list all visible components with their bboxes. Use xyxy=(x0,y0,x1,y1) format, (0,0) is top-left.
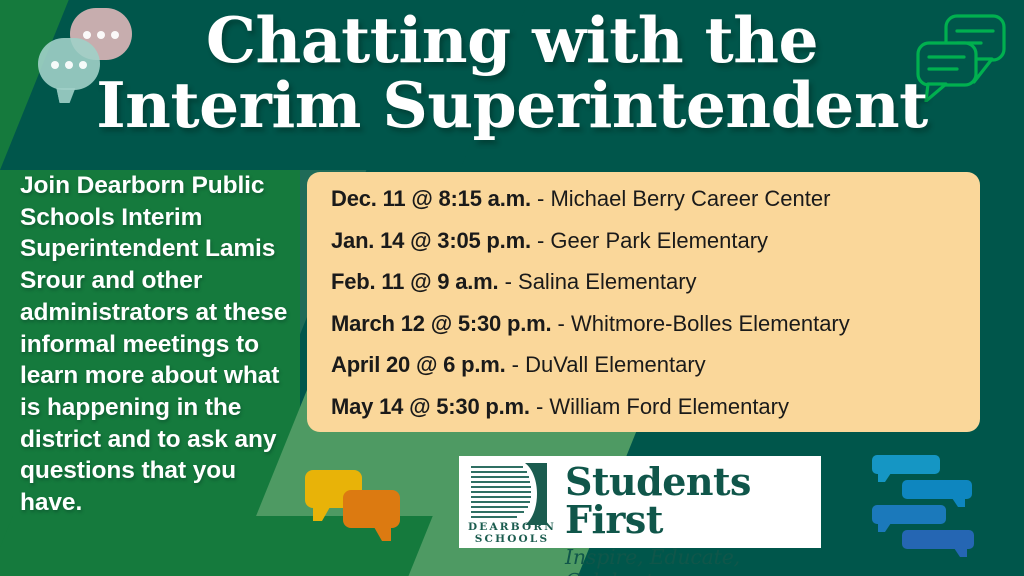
dearborn-schools-logo: DEARBORN SCHOOLS Students First Inspire,… xyxy=(459,456,821,548)
logo-mark-wordmark: DEARBORN SCHOOLS xyxy=(466,521,558,545)
schedule-row: March 12 @ 5:30 p.m. - Whitmore-Bolles E… xyxy=(331,313,980,335)
schedule-card: Dec. 11 @ 8:15 a.m. - Michael Berry Care… xyxy=(307,172,980,432)
schedule-datetime: Dec. 11 @ 8:15 a.m. xyxy=(331,186,531,211)
blue-bubble xyxy=(872,505,946,524)
logo-mark-line-1: DEARBORN xyxy=(466,521,558,533)
schedule-location: Whitmore-Bolles Elementary xyxy=(571,311,850,336)
logo-tagline: Inspire, Educate, Celebrate xyxy=(565,545,815,576)
title-line-1: Chatting with the xyxy=(0,8,1024,73)
logo-title: Students First xyxy=(565,463,815,539)
poster-canvas: Chatting with the Interim Superintendent… xyxy=(0,0,1024,576)
title-line-2: Interim Superintendent xyxy=(0,73,1024,138)
schedule-location: Michael Berry Career Center xyxy=(550,186,830,211)
schedule-row: April 20 @ 6 p.m. - DuVall Elementary xyxy=(331,354,980,376)
blue-bubble xyxy=(872,455,940,474)
schedule-datetime: Feb. 11 @ 9 a.m. xyxy=(331,269,498,294)
speech-bubble-orange-icon xyxy=(343,490,400,528)
schedule-datetime: March 12 @ 5:30 p.m. xyxy=(331,311,551,336)
schedule-datetime: Jan. 14 @ 3:05 p.m. xyxy=(331,228,531,253)
logo-mark-line-2: SCHOOLS xyxy=(466,533,558,545)
schedule-datetime: May 14 @ 5:30 p.m. xyxy=(331,394,530,419)
schedule-row: Jan. 14 @ 3:05 p.m. - Geer Park Elementa… xyxy=(331,230,980,252)
dearborn-d-mark-icon: DEARBORN SCHOOLS xyxy=(459,456,559,548)
blue-bubble xyxy=(902,480,972,499)
schedule-location: Geer Park Elementary xyxy=(550,228,768,253)
schedule-location: William Ford Elementary xyxy=(549,394,789,419)
schedule-separator: - xyxy=(551,311,571,336)
schedule-row: Feb. 11 @ 9 a.m. - Salina Elementary xyxy=(331,271,980,293)
schedule-separator: - xyxy=(498,269,518,294)
intro-paragraph: Join Dearborn Public Schools Interim Sup… xyxy=(20,170,295,519)
speech-bubble-blue-stack-icon xyxy=(872,455,992,555)
schedule-separator: - xyxy=(531,186,551,211)
schedule-row: Dec. 11 @ 8:15 a.m. - Michael Berry Care… xyxy=(331,188,980,210)
schedule-location: Salina Elementary xyxy=(518,269,697,294)
logo-wordmark: Students First Inspire, Educate, Celebra… xyxy=(559,456,821,548)
schedule-separator: - xyxy=(530,394,550,419)
schedule-datetime: April 20 @ 6 p.m. xyxy=(331,352,506,377)
blue-bubble xyxy=(902,530,974,549)
schedule-separator: - xyxy=(531,228,551,253)
schedule-location: DuVall Elementary xyxy=(525,352,706,377)
schedule-row: May 14 @ 5:30 p.m. - William Ford Elemen… xyxy=(331,396,980,418)
page-title: Chatting with the Interim Superintendent xyxy=(0,8,1024,138)
schedule-separator: - xyxy=(506,352,526,377)
